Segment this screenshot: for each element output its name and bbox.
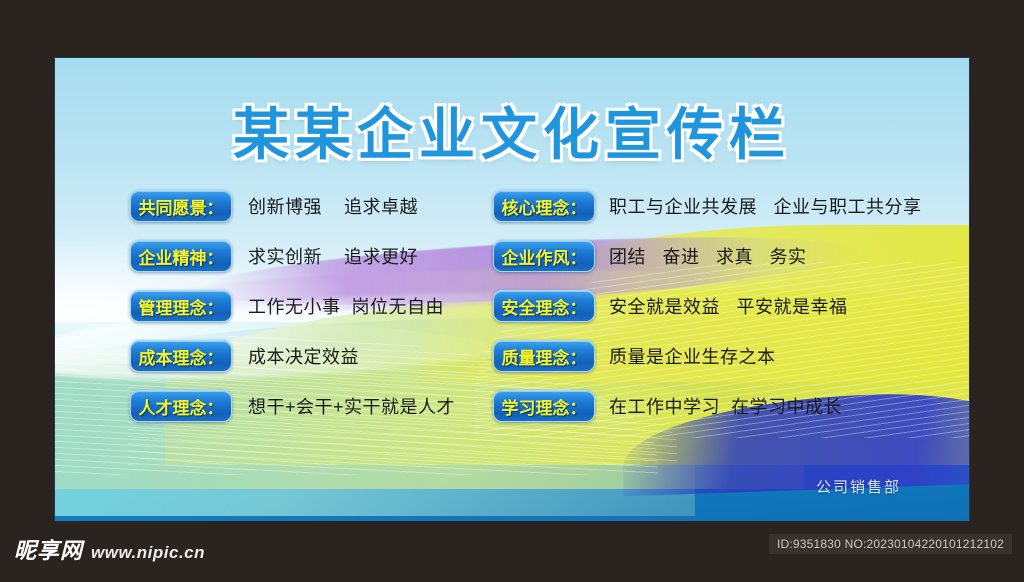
watermark-bar: 昵享网 www.nipic.cn ID:9351830 NO:202301042… <box>0 521 1024 582</box>
badge-quality-philosophy: 质量理念： <box>493 340 595 372</box>
badge-core-philosophy: 核心理念： <box>493 190 595 222</box>
list-item: 共同愿景： 创新博强 追求卓越 <box>130 190 455 222</box>
department-label: 公司销售部 <box>816 476 901 497</box>
list-item: 企业作风： 团结 奋进 求真 务实 <box>493 240 922 272</box>
asset-id-badge: ID:9351830 NO:20230104220101212102 <box>769 534 1012 554</box>
value-core-philosophy: 职工与企业共发展 企业与职工共分享 <box>609 193 922 219</box>
list-item: 企业精神： 求实创新 追求更好 <box>130 240 455 272</box>
value-enterprise-style: 团结 奋进 求真 务实 <box>609 243 807 269</box>
badge-enterprise-style: 企业作风： <box>493 240 595 272</box>
list-item: 学习理念： 在工作中学习 在学习中成长 <box>493 390 922 422</box>
badge-enterprise-spirit: 企业精神： <box>130 240 232 272</box>
site-logo-cn: 昵享网 <box>14 533 83 565</box>
badge-learning-philosophy: 学习理念： <box>493 390 595 422</box>
badge-shared-vision: 共同愿景： <box>130 190 232 222</box>
value-management-philosophy: 工作无小事 岗位无自由 <box>248 293 444 319</box>
badge-safety-philosophy: 安全理念： <box>493 290 595 322</box>
list-item: 核心理念： 职工与企业共发展 企业与职工共分享 <box>493 190 922 222</box>
list-item: 质量理念： 质量是企业生存之本 <box>493 340 922 372</box>
badge-cost-philosophy: 成本理念： <box>130 340 232 372</box>
right-column: 核心理念： 职工与企业共发展 企业与职工共分享 企业作风： 团结 奋进 求真 务… <box>493 190 922 440</box>
badge-management-philosophy: 管理理念： <box>130 290 232 322</box>
badge-talent-philosophy: 人才理念： <box>130 390 232 422</box>
value-shared-vision: 创新博强 追求卓越 <box>248 193 418 219</box>
screenshot-root: 某某企业文化宣传栏 共同愿景： 创新博强 追求卓越 企业精神： 求实创新 追求更… <box>0 0 1024 582</box>
list-item: 成本理念： 成本决定效益 <box>130 340 455 372</box>
value-quality-philosophy: 质量是企业生存之本 <box>609 343 776 369</box>
page-title: 某某企业文化宣传栏 <box>55 90 969 171</box>
left-column: 共同愿景： 创新博强 追求卓越 企业精神： 求实创新 追求更好 管理理念： 工作… <box>130 190 455 440</box>
value-cost-philosophy: 成本决定效益 <box>248 343 359 369</box>
value-enterprise-spirit: 求实创新 追求更好 <box>248 243 418 269</box>
poster-canvas: 某某企业文化宣传栏 共同愿景： 创新博强 追求卓越 企业精神： 求实创新 追求更… <box>55 58 969 521</box>
site-logo: 昵享网 www.nipic.cn <box>14 533 205 565</box>
list-item: 安全理念： 安全就是效益 平安就是幸福 <box>493 290 922 322</box>
value-safety-philosophy: 安全就是效益 平安就是幸福 <box>609 293 848 319</box>
value-talent-philosophy: 想干+会干+实干就是人才 <box>248 393 455 419</box>
list-item: 管理理念： 工作无小事 岗位无自由 <box>130 290 455 322</box>
value-learning-philosophy: 在工作中学习 在学习中成长 <box>609 393 842 419</box>
site-logo-url: www.nipic.cn <box>91 543 205 563</box>
list-item: 人才理念： 想干+会干+实干就是人才 <box>130 390 455 422</box>
